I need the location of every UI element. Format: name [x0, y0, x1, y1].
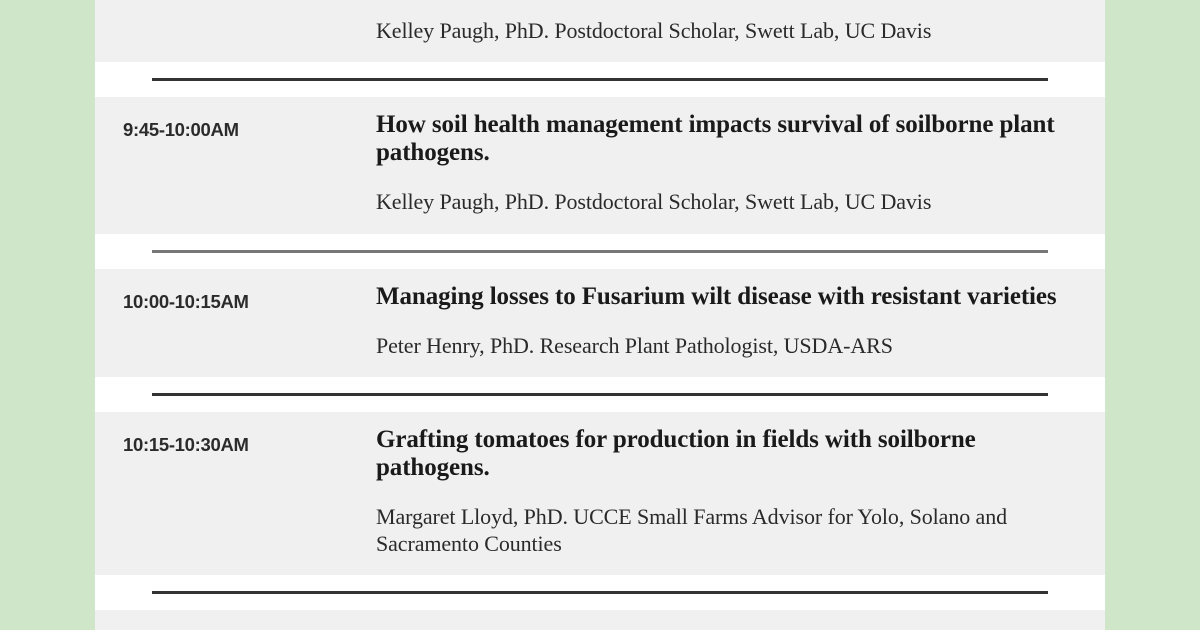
- session-body: Kelley Paugh, PhD. Postdoctoral Scholar,…: [376, 0, 1105, 62]
- session-title: [376, 0, 1075, 6]
- session-time: 10:15-10:30AM: [95, 412, 376, 456]
- row-separator: [95, 377, 1105, 412]
- divider-rule: [152, 393, 1048, 396]
- schedule-row-partial: [95, 610, 1105, 630]
- session-title: Grafting tomatoes for production in fiel…: [376, 426, 1075, 482]
- schedule-row: 10:15-10:30AM Grafting tomatoes for prod…: [95, 412, 1105, 575]
- schedule-panel: Kelley Paugh, PhD. Postdoctoral Scholar,…: [95, 0, 1105, 630]
- session-time: 10:00-10:15AM: [95, 269, 376, 313]
- schedule-page: Kelley Paugh, PhD. Postdoctoral Scholar,…: [0, 0, 1200, 630]
- divider-rule: [152, 78, 1048, 81]
- session-body: How soil health management impacts survi…: [376, 97, 1105, 233]
- row-separator: [95, 575, 1105, 610]
- schedule-row: 9:45-10:00AM How soil health management …: [95, 97, 1105, 233]
- session-speaker: Kelley Paugh, PhD. Postdoctoral Scholar,…: [376, 18, 1075, 44]
- row-separator: [95, 234, 1105, 269]
- session-title: How soil health management impacts survi…: [376, 111, 1075, 167]
- session-body: Grafting tomatoes for production in fiel…: [376, 412, 1105, 575]
- schedule-row: 10:00-10:15AM Managing losses to Fusariu…: [95, 269, 1105, 377]
- divider-rule: [152, 591, 1048, 594]
- session-speaker: Peter Henry, PhD. Research Plant Patholo…: [376, 333, 1075, 359]
- session-body: Managing losses to Fusarium wilt disease…: [376, 269, 1105, 377]
- schedule-row: Kelley Paugh, PhD. Postdoctoral Scholar,…: [95, 0, 1105, 62]
- session-time: [95, 0, 376, 22]
- session-time: 9:45-10:00AM: [95, 97, 376, 141]
- session-speaker: Kelley Paugh, PhD. Postdoctoral Scholar,…: [376, 189, 1075, 215]
- row-separator: [95, 62, 1105, 97]
- session-speaker: Margaret Lloyd, PhD. UCCE Small Farms Ad…: [376, 504, 1075, 557]
- divider-rule: [152, 250, 1048, 253]
- session-title: Managing losses to Fusarium wilt disease…: [376, 283, 1075, 311]
